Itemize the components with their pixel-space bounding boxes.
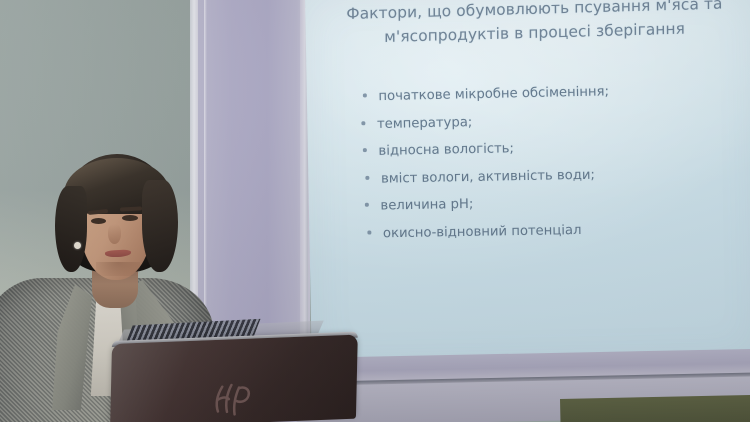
bullet-text: початкове мікробне обсіменіння;	[378, 84, 609, 104]
list-item: величина рН;	[365, 192, 750, 214]
bullet-dot-icon	[365, 176, 369, 180]
slide-bullet-list: початкове мікробне обсіменіння; температ…	[363, 82, 750, 254]
list-item: температура;	[361, 109, 750, 132]
nose	[108, 224, 121, 244]
bullet-dot-icon	[363, 148, 367, 152]
list-item: окисно-відновний потенціал	[367, 219, 750, 241]
eye-left	[91, 218, 106, 224]
earring	[74, 242, 81, 249]
projected-slide: Фактори, що обумовлюють псування м'яса т…	[305, 0, 750, 372]
bullet-dot-icon	[363, 94, 367, 98]
bullet-text: окисно-відновний потенціал	[383, 223, 582, 241]
bullet-text: відносна вологість;	[378, 141, 514, 159]
presenter-hair-right	[142, 180, 178, 272]
floor-strip	[560, 394, 750, 422]
presentation-photo-scene: Фактори, що обумовлюють псування м'яса т…	[0, 0, 750, 422]
list-item: відносна вологість;	[363, 137, 750, 160]
list-item: початкове мікробне обсіменіння;	[363, 81, 750, 104]
bullet-text: вміст вологи, активність води;	[381, 167, 595, 186]
eye-right	[122, 215, 138, 221]
bullet-dot-icon	[367, 230, 371, 234]
bullet-text: величина рН;	[380, 197, 473, 214]
bullet-text: температура;	[377, 115, 473, 132]
hp-logo-icon	[211, 381, 254, 417]
bullet-dot-icon	[361, 121, 365, 125]
slide-title: Фактори, що обумовлюють псування м'яса т…	[329, 0, 739, 51]
list-item: вміст вологи, активність води;	[365, 164, 750, 186]
presenter-hair-left	[55, 186, 87, 272]
bullet-dot-icon	[365, 203, 369, 207]
chin-shadow	[96, 262, 140, 276]
